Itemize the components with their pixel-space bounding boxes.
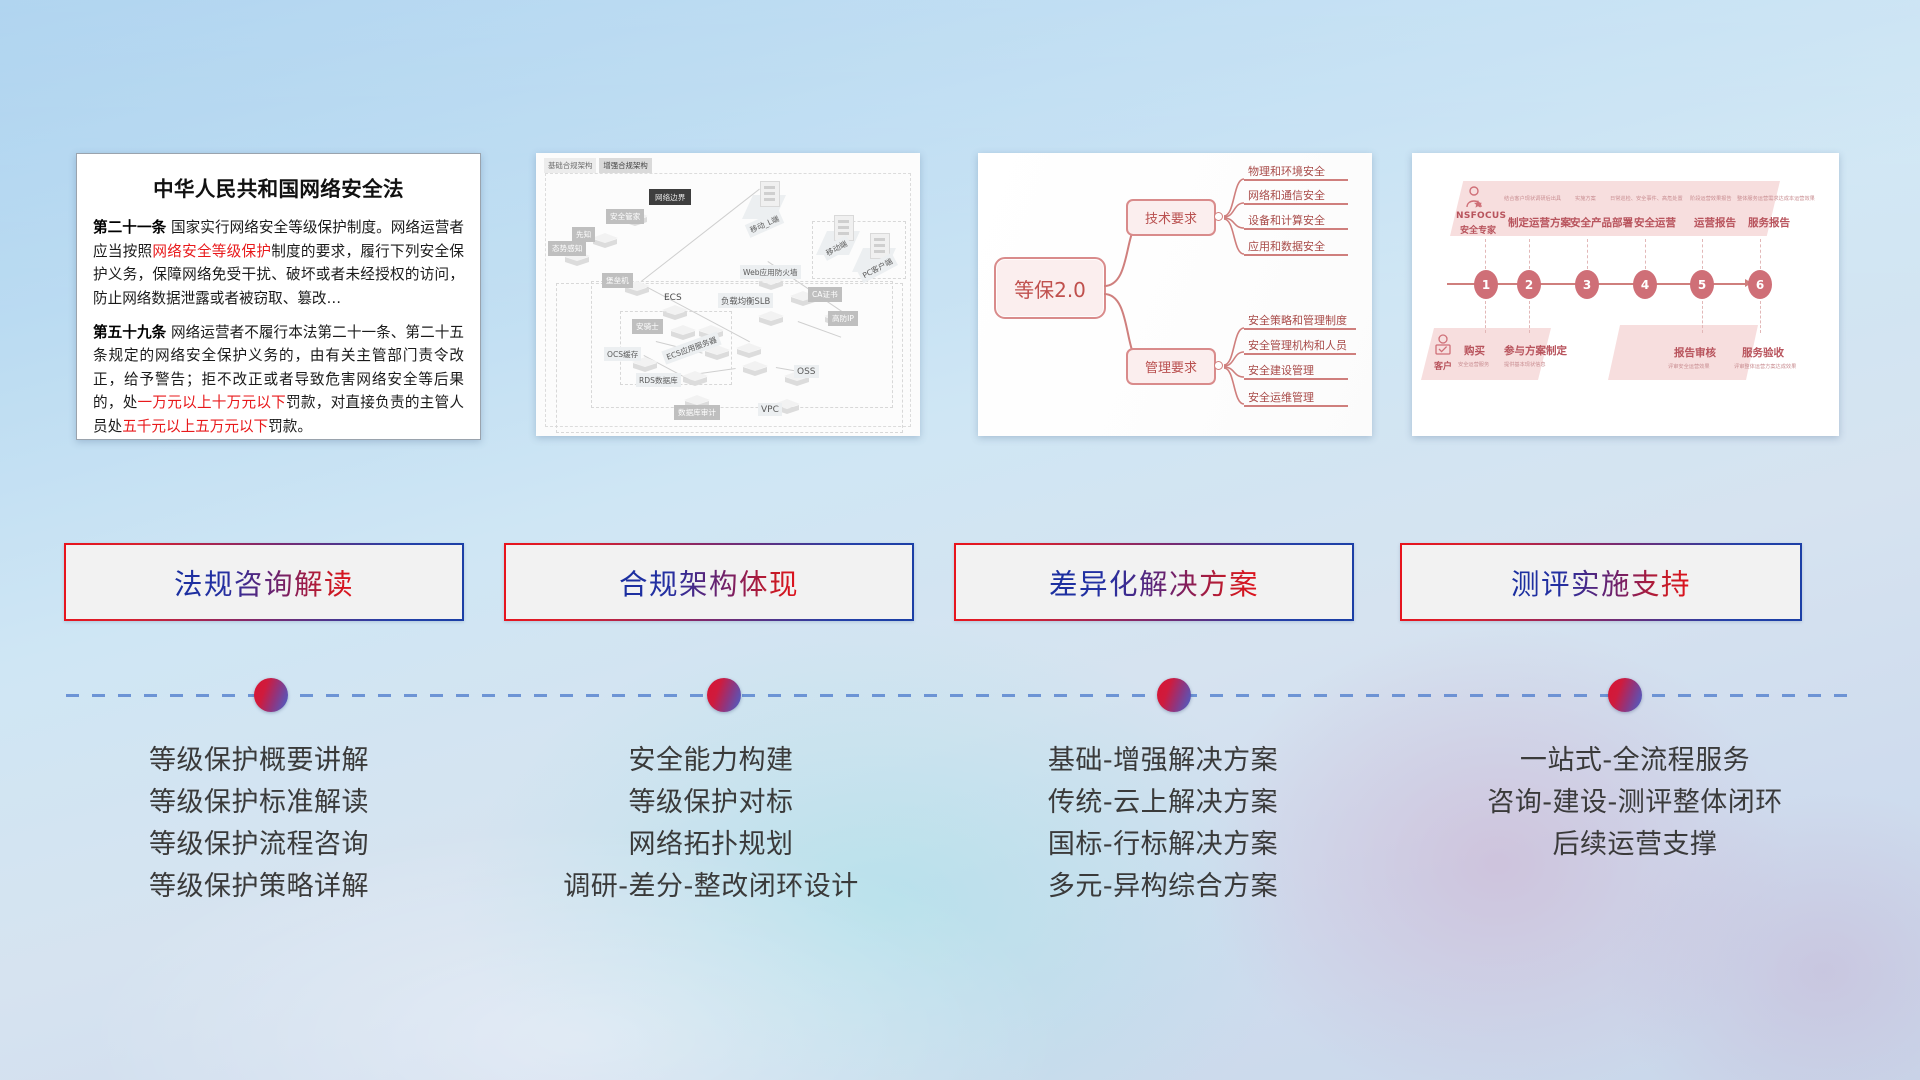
- cube-icon: [742, 361, 768, 378]
- mind-map-leaf: 安全建设管理: [1248, 362, 1314, 378]
- step-title: 安全运营: [1634, 215, 1676, 230]
- title-plate-assessment[interactable]: 测评实施支持: [1400, 543, 1802, 621]
- step-sub: 评审安全运营效果: [1668, 363, 1710, 370]
- cube-icon: [592, 233, 618, 250]
- step-title: 报告审核: [1674, 345, 1716, 360]
- list-item: 等级保护流程咨询: [34, 824, 484, 866]
- list-assessment: 一站式-全流程服务 咨询-建设-测评整体闭环 后续运营支撑: [1390, 740, 1880, 866]
- timeline-step-node[interactable]: 5: [1690, 270, 1714, 299]
- arch-node-label: 先知: [572, 227, 595, 242]
- dashed-connector: [1760, 239, 1761, 269]
- list-solution: 基础-增强解决方案 传统-云上解决方案 国标-行标解决方案 多元-异构综合方案: [938, 740, 1388, 907]
- column-solution: 等保2.0 技术要求 管理要求 物理和环境安全: [938, 0, 1388, 1080]
- tab-basic-architecture[interactable]: 基础合规架构: [544, 158, 596, 173]
- step-sub: 日常巡检、安全事件、高危处置: [1610, 195, 1683, 202]
- arch-node-label: 网络边界: [649, 189, 691, 205]
- arch-node-label: 态势感知: [548, 241, 586, 256]
- law-article-21-label: 第二十一条: [93, 219, 166, 236]
- security-expert-icon: [1464, 186, 1484, 208]
- column-regulation: 中华人民共和国网络安全法 第二十一条 国家实行网络安全等级保护制度。网络运营者应…: [34, 0, 484, 1080]
- mind-map-branch-technical: 技术要求: [1126, 199, 1216, 236]
- law-article-59-highlight-2: 五千元以上五万元以下: [122, 418, 268, 435]
- dashed-connector: [1702, 301, 1703, 333]
- timeline-step-node[interactable]: 2: [1517, 270, 1541, 299]
- mind-map-leaf-connectors-technical: [1223, 165, 1245, 275]
- step-title: 服务验收: [1742, 345, 1784, 360]
- mind-map-branch-management: 管理要求: [1126, 348, 1216, 385]
- step-title: 运营报告: [1694, 215, 1736, 230]
- list-item: 等级保护对标: [486, 782, 936, 824]
- list-item: 咨询-建设-测评整体闭环: [1390, 782, 1880, 824]
- timeline-step-node[interactable]: 4: [1633, 270, 1657, 299]
- mind-map-leaf-underline: [1244, 378, 1348, 380]
- mind-map-leaf-underline: [1244, 328, 1356, 330]
- arch-node-label: VPC: [758, 403, 782, 416]
- law-heading: 中华人民共和国网络安全法: [93, 172, 464, 202]
- step-sub: 结合客户现状调研后出具: [1504, 195, 1561, 202]
- brand-name: NSFOCUS: [1456, 211, 1506, 221]
- step-sub: 实施方案: [1575, 195, 1596, 202]
- title-text-assessment: 测评实施支持: [1511, 562, 1691, 603]
- mind-map-leaf-underline: [1244, 254, 1348, 256]
- mind-map-leaf: 安全策略和管理制度: [1248, 312, 1347, 328]
- arch-node-label: 安骑士: [632, 319, 663, 334]
- cube-icon: [736, 343, 762, 360]
- arch-node-label: CA证书: [808, 287, 842, 302]
- dashed-connector: [1529, 239, 1530, 269]
- law-article-21: 第二十一条 国家实行网络安全等级保护制度。网络运营者应当按照网络安全等级保护制度…: [93, 216, 464, 311]
- dashed-connector: [1485, 301, 1486, 333]
- arch-node-label: 负载均衡SLB: [718, 293, 773, 308]
- title-plate-regulation[interactable]: 法规咨询解读: [64, 543, 464, 621]
- customer-label: 客户: [1434, 359, 1452, 372]
- timeline-step-node[interactable]: 6: [1748, 270, 1772, 299]
- mind-map-collapse-dot[interactable]: [1214, 212, 1223, 221]
- arch-node-label: 高防IP: [828, 311, 858, 326]
- dashed-connector: [1760, 301, 1761, 333]
- arch-node-label: Web应用防火墙: [740, 265, 801, 279]
- mind-map-leaf-underline: [1244, 405, 1348, 407]
- list-item: 安全能力构建: [486, 740, 936, 782]
- mind-map-leaf-underline: [1244, 228, 1348, 230]
- dashed-connector: [1645, 239, 1646, 269]
- step-sub: 整体服务运营需求达成本运营效果: [1737, 195, 1815, 202]
- mind-map-collapse-dot[interactable]: [1214, 361, 1223, 370]
- cube-icon: [662, 305, 688, 322]
- title-text-architecture: 合规架构体现: [619, 562, 799, 603]
- dashed-connector: [1702, 239, 1703, 269]
- arch-node-label: OCS缓存: [604, 347, 641, 361]
- mind-map-leaf-connectors-management: [1223, 314, 1245, 426]
- timeline-step-node[interactable]: 1: [1474, 270, 1498, 299]
- list-item: 调研-差分-整改闭环设计: [486, 866, 936, 908]
- list-item: 国标-行标解决方案: [938, 824, 1388, 866]
- arch-node-label: 数据库审计: [674, 405, 720, 420]
- server-icon: [760, 181, 780, 207]
- step-sub: 评审整体运营方案达成效果: [1734, 363, 1796, 370]
- tab-enhanced-architecture[interactable]: 增强合规架构: [599, 158, 651, 173]
- customer-icon: [1434, 334, 1452, 358]
- list-item: 传统-云上解决方案: [938, 782, 1388, 824]
- arch-node-label: ECS: [664, 293, 682, 303]
- step-sub: 安全运营服务: [1458, 361, 1489, 368]
- mind-map-diagram: 等保2.0 技术要求 管理要求 物理和环境安全: [978, 153, 1372, 436]
- mind-map-leaf-underline: [1244, 203, 1348, 205]
- list-architecture: 安全能力构建 等级保护对标 网络拓扑规划 调研-差分-整改闭环设计: [486, 740, 936, 907]
- mind-map-leaf: 物理和环境安全: [1248, 163, 1325, 179]
- mind-map-leaf: 设备和计算安全: [1248, 212, 1325, 228]
- cube-icon: [682, 371, 708, 388]
- list-item: 等级保护概要讲解: [34, 740, 484, 782]
- mind-map-leaf: 安全管理机构和人员: [1248, 337, 1347, 353]
- list-item: 一站式-全流程服务: [1390, 740, 1880, 782]
- step-title: 安全产品部署: [1570, 215, 1633, 230]
- nsfocus-timeline-diagram: NSFOCUS 安全专家 结合客户现状调研后出具 实施方案 日常巡检、安全事件、…: [1412, 153, 1839, 436]
- step-title: 购买: [1464, 343, 1485, 358]
- arch-node-label: 堡垒机: [602, 273, 633, 288]
- column-assessment: NSFOCUS 安全专家 结合客户现状调研后出具 实施方案 日常巡检、安全事件、…: [1390, 0, 1880, 1080]
- list-item: 基础-增强解决方案: [938, 740, 1388, 782]
- brand-subtitle: 安全专家: [1460, 223, 1496, 236]
- law-document-body: 中华人民共和国网络安全法 第二十一条 国家实行网络安全等级保护制度。网络运营者应…: [77, 154, 480, 439]
- thumbnail-law-document[interactable]: 中华人民共和国网络安全法 第二十一条 国家实行网络安全等级保护制度。网络运营者应…: [76, 153, 481, 440]
- step-title: 参与方案制定: [1504, 343, 1567, 358]
- list-item: 多元-异构综合方案: [938, 866, 1388, 908]
- step-title: 制定运营方案: [1508, 215, 1571, 230]
- step-title: 服务报告: [1748, 215, 1790, 230]
- step-sub: 阶段运营效果报告: [1690, 195, 1732, 202]
- arch-node-label: RDS数据库: [636, 373, 681, 387]
- law-article-59-highlight-1: 一万元以上十万元以下: [138, 394, 286, 411]
- mind-map-leaf: 网络和通信安全: [1248, 187, 1325, 203]
- law-article-59-text-3: 罚款。: [268, 418, 312, 435]
- title-text-solution: 差异化解决方案: [1049, 562, 1259, 603]
- list-regulation: 等级保护概要讲解 等级保护标准解读 等级保护流程咨询 等级保护策略详解: [34, 740, 484, 907]
- architecture-tabs: 基础合规架构 增强合规架构: [544, 158, 652, 173]
- list-item: 后续运营支撑: [1390, 824, 1880, 866]
- law-article-59: 第五十九条 网络运营者不履行本法第二十一条、第二十五条规定的网络安全保护义务的，…: [93, 321, 464, 439]
- thumbnail-service-timeline[interactable]: NSFOCUS 安全专家 结合客户现状调研后出具 实施方案 日常巡检、安全事件、…: [1412, 153, 1839, 436]
- mind-map-leaf-underline: [1244, 353, 1356, 355]
- list-item: 网络拓扑规划: [486, 824, 936, 866]
- mind-map-leaf: 应用和数据安全: [1248, 238, 1325, 254]
- step-sub: 提供基本现状信息: [1504, 361, 1546, 368]
- dashed-connector: [1529, 301, 1530, 333]
- timeline-step-node[interactable]: 3: [1575, 270, 1599, 299]
- title-text-regulation: 法规咨询解读: [174, 562, 354, 603]
- title-plate-architecture[interactable]: 合规架构体现: [504, 543, 914, 621]
- list-item: 等级保护标准解读: [34, 782, 484, 824]
- cube-icon: [758, 311, 784, 328]
- thumbnail-cloud-architecture[interactable]: 基础合规架构 增强合规架构: [536, 153, 920, 436]
- architecture-diagram: 基础合规架构 增强合规架构: [536, 153, 920, 436]
- dashed-connector: [1485, 239, 1486, 269]
- column-architecture: 基础合规架构 增强合规架构: [486, 0, 936, 1080]
- dashed-connector: [1587, 239, 1588, 269]
- arch-node-label: OSS: [794, 365, 819, 378]
- mind-map-leaf-underline: [1244, 179, 1348, 181]
- columns-container: 中华人民共和国网络安全法 第二十一条 国家实行网络安全等级保护制度。网络运营者应…: [0, 0, 1920, 1080]
- title-plate-solution[interactable]: 差异化解决方案: [954, 543, 1354, 621]
- list-item: 等级保护策略详解: [34, 866, 484, 908]
- mind-map-leaf: 安全运维管理: [1248, 389, 1314, 405]
- law-article-21-highlight: 网络安全等级保护: [152, 243, 271, 260]
- law-article-59-label: 第五十九条: [93, 324, 166, 341]
- thumbnail-mind-map[interactable]: 等保2.0 技术要求 管理要求 物理和环境安全: [978, 153, 1372, 436]
- arch-node-label: 安全管家: [606, 209, 644, 224]
